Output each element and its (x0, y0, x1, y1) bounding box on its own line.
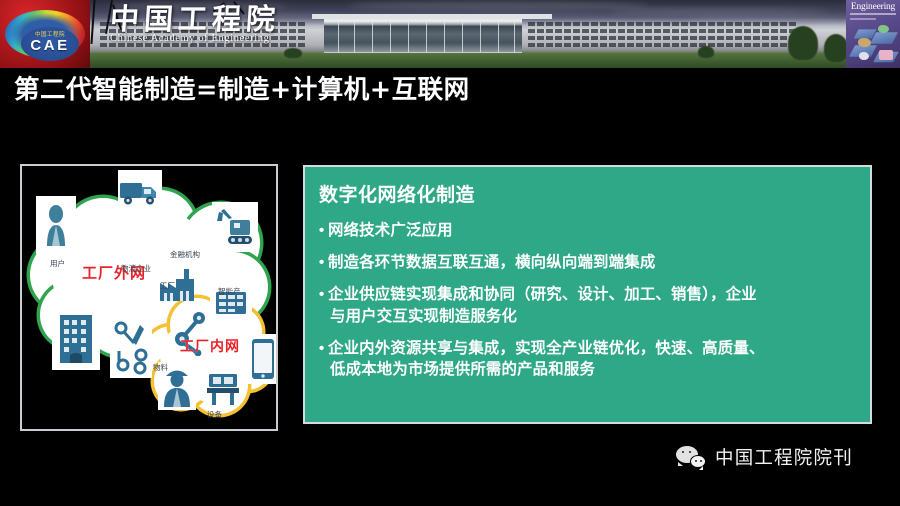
wechat-footer: 中国工程院院刊 (676, 444, 853, 470)
bullet-line-2: 低成本地为市场提供所需的产品和服务 (328, 359, 765, 381)
cae-rainbow-ellipse: 中国工程院 CAE (5, 10, 85, 58)
bullet-marker: • (315, 338, 328, 360)
tools-icon (113, 321, 149, 375)
page-title: 第二代智能制造=制造+计算机+互联网 (14, 76, 470, 105)
content-panel: 数字化网络化制造 • 网络技术广泛应用 • 制造各环节数据互联互通，横向纵向端到… (303, 165, 872, 424)
list-item: • 企业内外资源共享与集成，实现全产业链优化，快速、高质量、 低成本地为市场提供… (315, 338, 867, 382)
bullet-line-1: 制造各环节数据互联互通，横向纵向端到端集成 (328, 253, 655, 271)
panel-heading: 数字化网络化制造 (319, 180, 475, 207)
journal-title-text: Engineering (846, 2, 900, 12)
cae-logo-inner: 中国工程院 CAE (21, 27, 79, 61)
node-label-user: 用户 (50, 258, 65, 269)
bullet-line-1: 企业供应链实现集成和协同（研究、设计、加工、销售），企业 (328, 285, 757, 303)
bullet-list: • 网络技术广泛应用 • 制造各环节数据互联互通，横向纵向端到端集成 • 企业供… (315, 220, 867, 391)
cae-abbrev-text: CAE (21, 38, 79, 53)
tablet-icon (251, 338, 275, 380)
diagram-canvas: 工厂外网 工厂内网 用户 物流企业 金融机构 智能产 工厂 物料 设备 (22, 166, 276, 429)
icon-card-truck (118, 170, 162, 216)
cae-logo: 中国工程院 CAE (0, 0, 90, 68)
journal-byline-rule (850, 18, 876, 20)
node-label-equipment: 设备 (207, 409, 222, 420)
header-banner: 中国工程院 CAE 中国工程院 Chinese Academy of Engin… (0, 0, 900, 68)
bullet-text: 制造各环节数据互联互通，横向纵向端到端集成 (328, 252, 655, 274)
bullet-marker: • (315, 284, 328, 306)
bullet-text: 企业内外资源共享与集成，实现全产业链优化，快速、高质量、 低成本地为市场提供所需… (328, 338, 765, 382)
bullet-line-1: 企业内外资源共享与集成，实现全产业链优化，快速、高质量、 (328, 339, 765, 357)
excavator-icon (214, 206, 256, 248)
office-building-icon (56, 311, 96, 367)
inner-network-label: 工厂内网 (180, 336, 240, 356)
bullet-marker: • (315, 220, 328, 242)
list-item: • 企业供应链实现集成和协同（研究、设计、加工、销售），企业 与用户交互实现制造… (315, 284, 867, 328)
factory-network-diagram-panel: 工厂外网 工厂内网 用户 物流企业 金融机构 智能产 工厂 物料 设备 (20, 164, 278, 431)
list-item: • 网络技术广泛应用 (315, 220, 867, 242)
bullet-text: 网络技术广泛应用 (328, 220, 453, 242)
icon-card-person (36, 196, 76, 254)
icon-card-excavator (212, 202, 258, 252)
icon-card-tools (110, 318, 152, 378)
node-label-factory: 工厂 (160, 280, 175, 291)
wechat-bubble-small (690, 455, 706, 468)
bullet-line-2: 与用户交互实现制造服务化 (328, 306, 757, 328)
node-label-product: 智能产 (218, 286, 241, 297)
cae-wordmark-chinese: 中国工程院 (109, 4, 356, 34)
cae-wordmark-english: Chinese Academy of Engineering (110, 33, 355, 44)
cae-wordmark: 中国工程院 Chinese Academy of Engineering (110, 4, 355, 48)
icon-card-office-building (52, 308, 100, 370)
node-label-logistics: 物流企业 (121, 263, 151, 274)
wechat-icon (676, 446, 706, 468)
machine-tool-icon (204, 370, 242, 408)
node-label-finance: 金融机构 (170, 249, 200, 260)
bullet-marker: • (315, 252, 328, 274)
bullet-line-1: 网络技术广泛应用 (328, 221, 453, 239)
icon-card-machine-tool (202, 368, 244, 410)
journal-subtitle-rule (850, 13, 896, 15)
bullet-text: 企业供应链实现集成和协同（研究、设计、加工、销售），企业 与用户交互实现制造服务… (328, 284, 757, 328)
wechat-account-name: 中国工程院院刊 (715, 444, 853, 470)
lawn (88, 53, 848, 68)
truck-icon (120, 179, 160, 207)
engineering-journal-cover: Engineering (846, 0, 900, 68)
node-label-material: 物料 (153, 362, 168, 373)
person-icon (43, 204, 69, 246)
icon-card-tablet (247, 334, 276, 384)
list-item: • 制造各环节数据互联互通，横向纵向端到端集成 (315, 252, 867, 274)
